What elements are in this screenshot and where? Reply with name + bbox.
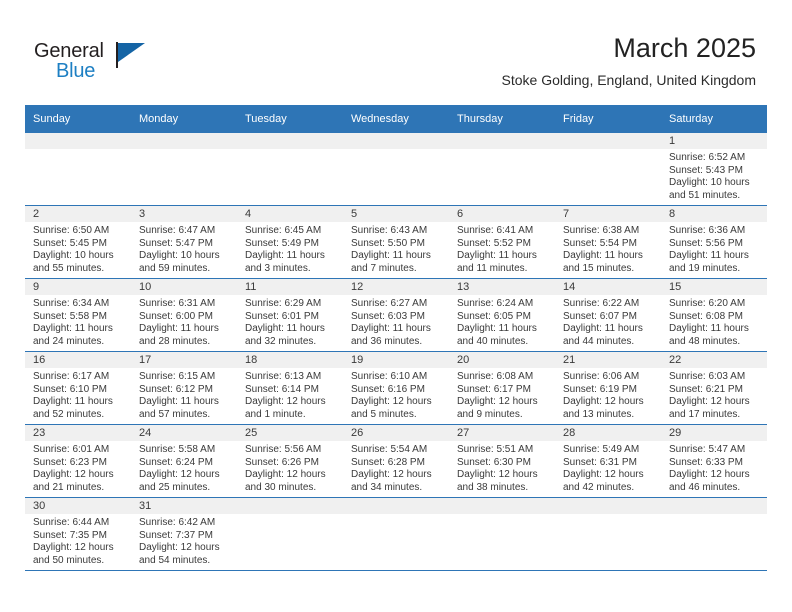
daylight-text: Daylight: 11 hours [563, 323, 657, 336]
day-number: 13 [449, 279, 555, 295]
day-details: Sunrise: 6:27 AMSunset: 6:03 PMDaylight:… [343, 295, 449, 348]
daylight-text: and 5 minutes. [351, 409, 445, 422]
day-details: Sunrise: 6:44 AMSunset: 7:35 PMDaylight:… [25, 514, 131, 567]
calendar-week-row: 30Sunrise: 6:44 AMSunset: 7:35 PMDayligh… [25, 498, 767, 571]
daylight-text: and 59 minutes. [139, 263, 233, 276]
daylight-text: Daylight: 11 hours [139, 323, 233, 336]
day-number: 10 [131, 279, 237, 295]
calendar-day-cell[interactable]: 17Sunrise: 6:15 AMSunset: 6:12 PMDayligh… [131, 352, 237, 425]
sunrise-text: Sunrise: 6:47 AM [139, 225, 233, 238]
daylight-text: and 42 minutes. [563, 482, 657, 495]
sunset-text: Sunset: 6:23 PM [33, 457, 127, 470]
daylight-text: Daylight: 11 hours [33, 323, 127, 336]
sunset-text: Sunset: 5:43 PM [669, 165, 763, 178]
calendar-day-cell[interactable]: 8Sunrise: 6:36 AMSunset: 5:56 PMDaylight… [661, 206, 767, 279]
daylight-text: and 3 minutes. [245, 263, 339, 276]
day-cell-content: 6Sunrise: 6:41 AMSunset: 5:52 PMDaylight… [449, 206, 555, 278]
day-number: 16 [25, 352, 131, 368]
day-cell-content: 21Sunrise: 6:06 AMSunset: 6:19 PMDayligh… [555, 352, 661, 424]
sunset-text: Sunset: 5:56 PM [669, 238, 763, 251]
calendar-empty-cell [449, 498, 555, 571]
sunrise-text: Sunrise: 6:36 AM [669, 225, 763, 238]
sunset-text: Sunset: 5:52 PM [457, 238, 551, 251]
day-details [237, 514, 343, 517]
calendar-day-cell[interactable]: 30Sunrise: 6:44 AMSunset: 7:35 PMDayligh… [25, 498, 131, 571]
day-number [131, 133, 237, 149]
sunset-text: Sunset: 6:26 PM [245, 457, 339, 470]
day-number: 8 [661, 206, 767, 222]
daylight-text: Daylight: 12 hours [563, 396, 657, 409]
day-number: 5 [343, 206, 449, 222]
calendar-day-cell[interactable]: 23Sunrise: 6:01 AMSunset: 6:23 PMDayligh… [25, 425, 131, 498]
day-details: Sunrise: 6:36 AMSunset: 5:56 PMDaylight:… [661, 222, 767, 275]
day-cell-content: 2Sunrise: 6:50 AMSunset: 5:45 PMDaylight… [25, 206, 131, 278]
daylight-text: Daylight: 11 hours [669, 250, 763, 263]
sunset-text: Sunset: 6:24 PM [139, 457, 233, 470]
daylight-text: Daylight: 11 hours [33, 396, 127, 409]
calendar-day-cell[interactable]: 3Sunrise: 6:47 AMSunset: 5:47 PMDaylight… [131, 206, 237, 279]
day-number: 29 [661, 425, 767, 441]
day-details: Sunrise: 5:54 AMSunset: 6:28 PMDaylight:… [343, 441, 449, 494]
daylight-text: Daylight: 12 hours [351, 396, 445, 409]
daylight-text: Daylight: 11 hours [245, 323, 339, 336]
day-details: Sunrise: 6:15 AMSunset: 6:12 PMDaylight:… [131, 368, 237, 421]
daylight-text: Daylight: 12 hours [669, 469, 763, 482]
daylight-text: Daylight: 11 hours [351, 323, 445, 336]
day-number: 4 [237, 206, 343, 222]
day-cell-content [237, 498, 343, 570]
daylight-text: Daylight: 12 hours [457, 469, 551, 482]
day-number: 12 [343, 279, 449, 295]
day-cell-content [131, 133, 237, 205]
daylight-text: Daylight: 10 hours [669, 177, 763, 190]
sunset-text: Sunset: 6:17 PM [457, 384, 551, 397]
day-cell-content [343, 498, 449, 570]
day-details: Sunrise: 6:42 AMSunset: 7:37 PMDaylight:… [131, 514, 237, 567]
daylight-text: and 44 minutes. [563, 336, 657, 349]
calendar-day-cell[interactable]: 21Sunrise: 6:06 AMSunset: 6:19 PMDayligh… [555, 352, 661, 425]
calendar-week-row: 16Sunrise: 6:17 AMSunset: 6:10 PMDayligh… [25, 352, 767, 425]
sunrise-text: Sunrise: 6:52 AM [669, 152, 763, 165]
sunset-text: Sunset: 6:03 PM [351, 311, 445, 324]
calendar-day-cell[interactable]: 27Sunrise: 5:51 AMSunset: 6:30 PMDayligh… [449, 425, 555, 498]
day-number [555, 498, 661, 514]
daylight-text: and 55 minutes. [33, 263, 127, 276]
calendar-week-row: 9Sunrise: 6:34 AMSunset: 5:58 PMDaylight… [25, 279, 767, 352]
calendar-day-cell[interactable]: 11Sunrise: 6:29 AMSunset: 6:01 PMDayligh… [237, 279, 343, 352]
sunrise-text: Sunrise: 6:06 AM [563, 371, 657, 384]
calendar-empty-cell [343, 498, 449, 571]
calendar-empty-cell [131, 133, 237, 206]
calendar-day-cell[interactable]: 2Sunrise: 6:50 AMSunset: 5:45 PMDaylight… [25, 206, 131, 279]
sunrise-text: Sunrise: 6:27 AM [351, 298, 445, 311]
sunset-text: Sunset: 5:47 PM [139, 238, 233, 251]
brand-logo: General Blue [34, 40, 164, 88]
day-details: Sunrise: 6:47 AMSunset: 5:47 PMDaylight:… [131, 222, 237, 275]
day-details: Sunrise: 6:06 AMSunset: 6:19 PMDaylight:… [555, 368, 661, 421]
day-details: Sunrise: 6:45 AMSunset: 5:49 PMDaylight:… [237, 222, 343, 275]
day-details: Sunrise: 6:17 AMSunset: 6:10 PMDaylight:… [25, 368, 131, 421]
calendar-header: SundayMondayTuesdayWednesdayThursdayFrid… [25, 105, 767, 133]
day-cell-content: 19Sunrise: 6:10 AMSunset: 6:16 PMDayligh… [343, 352, 449, 424]
day-cell-content: 11Sunrise: 6:29 AMSunset: 6:01 PMDayligh… [237, 279, 343, 351]
sunset-text: Sunset: 6:31 PM [563, 457, 657, 470]
calendar-week-row: 2Sunrise: 6:50 AMSunset: 5:45 PMDaylight… [25, 206, 767, 279]
location-subtitle: Stoke Golding, England, United Kingdom [502, 70, 757, 90]
sunset-text: Sunset: 6:07 PM [563, 311, 657, 324]
weekday-header-friday: Friday [555, 105, 661, 133]
day-number: 15 [661, 279, 767, 295]
weekday-header-thursday: Thursday [449, 105, 555, 133]
brand-name-blue: Blue [56, 60, 95, 83]
day-details: Sunrise: 6:22 AMSunset: 6:07 PMDaylight:… [555, 295, 661, 348]
sunset-text: Sunset: 6:30 PM [457, 457, 551, 470]
day-cell-content [661, 498, 767, 570]
day-cell-content [555, 133, 661, 205]
day-cell-content: 13Sunrise: 6:24 AMSunset: 6:05 PMDayligh… [449, 279, 555, 351]
daylight-text: and 46 minutes. [669, 482, 763, 495]
daylight-text: and 15 minutes. [563, 263, 657, 276]
daylight-text: Daylight: 11 hours [245, 250, 339, 263]
day-cell-content: 26Sunrise: 5:54 AMSunset: 6:28 PMDayligh… [343, 425, 449, 497]
sunrise-text: Sunrise: 6:44 AM [33, 517, 127, 530]
sunrise-text: Sunrise: 6:41 AM [457, 225, 551, 238]
day-number: 27 [449, 425, 555, 441]
sunrise-text: Sunrise: 6:38 AM [563, 225, 657, 238]
daylight-text: and 21 minutes. [33, 482, 127, 495]
calendar-empty-cell [555, 133, 661, 206]
calendar-day-cell[interactable]: 16Sunrise: 6:17 AMSunset: 6:10 PMDayligh… [25, 352, 131, 425]
day-cell-content: 31Sunrise: 6:42 AMSunset: 7:37 PMDayligh… [131, 498, 237, 570]
calendar-day-cell[interactable]: 12Sunrise: 6:27 AMSunset: 6:03 PMDayligh… [343, 279, 449, 352]
day-number [237, 498, 343, 514]
day-cell-content [449, 133, 555, 205]
calendar-empty-cell [237, 133, 343, 206]
day-number: 14 [555, 279, 661, 295]
day-number [449, 133, 555, 149]
day-details: Sunrise: 5:47 AMSunset: 6:33 PMDaylight:… [661, 441, 767, 494]
day-number: 30 [25, 498, 131, 514]
daylight-text: and 34 minutes. [351, 482, 445, 495]
day-number [449, 498, 555, 514]
daylight-text: Daylight: 12 hours [139, 469, 233, 482]
calendar-body: 1Sunrise: 6:52 AMSunset: 5:43 PMDaylight… [25, 133, 767, 571]
day-cell-content: 10Sunrise: 6:31 AMSunset: 6:00 PMDayligh… [131, 279, 237, 351]
sunset-text: Sunset: 6:21 PM [669, 384, 763, 397]
day-details: Sunrise: 6:52 AMSunset: 5:43 PMDaylight:… [661, 149, 767, 202]
day-number: 1 [661, 133, 767, 149]
calendar-empty-cell [555, 498, 661, 571]
day-cell-content: 25Sunrise: 5:56 AMSunset: 6:26 PMDayligh… [237, 425, 343, 497]
calendar-day-cell[interactable]: 26Sunrise: 5:54 AMSunset: 6:28 PMDayligh… [343, 425, 449, 498]
sunset-text: Sunset: 6:28 PM [351, 457, 445, 470]
calendar-day-cell[interactable]: 5Sunrise: 6:43 AMSunset: 5:50 PMDaylight… [343, 206, 449, 279]
day-details: Sunrise: 6:29 AMSunset: 6:01 PMDaylight:… [237, 295, 343, 348]
calendar-empty-cell [237, 498, 343, 571]
sunset-text: Sunset: 6:14 PM [245, 384, 339, 397]
day-cell-content: 12Sunrise: 6:27 AMSunset: 6:03 PMDayligh… [343, 279, 449, 351]
sunrise-text: Sunrise: 5:58 AM [139, 444, 233, 457]
daylight-text: Daylight: 11 hours [351, 250, 445, 263]
daylight-text: and 36 minutes. [351, 336, 445, 349]
day-cell-content: 14Sunrise: 6:22 AMSunset: 6:07 PMDayligh… [555, 279, 661, 351]
day-number: 17 [131, 352, 237, 368]
day-number: 22 [661, 352, 767, 368]
sunrise-text: Sunrise: 5:56 AM [245, 444, 339, 457]
daylight-text: and 24 minutes. [33, 336, 127, 349]
day-details [343, 514, 449, 517]
day-details: Sunrise: 6:13 AMSunset: 6:14 PMDaylight:… [237, 368, 343, 421]
day-details: Sunrise: 6:41 AMSunset: 5:52 PMDaylight:… [449, 222, 555, 275]
day-number [237, 133, 343, 149]
daylight-text: Daylight: 12 hours [457, 396, 551, 409]
sunset-text: Sunset: 5:54 PM [563, 238, 657, 251]
daylight-text: and 7 minutes. [351, 263, 445, 276]
daylight-text: Daylight: 10 hours [139, 250, 233, 263]
daylight-text: Daylight: 12 hours [669, 396, 763, 409]
day-number: 9 [25, 279, 131, 295]
sunrise-text: Sunrise: 6:45 AM [245, 225, 339, 238]
sunset-text: Sunset: 5:49 PM [245, 238, 339, 251]
day-number: 25 [237, 425, 343, 441]
day-details [555, 514, 661, 517]
flag-triangle-icon [118, 43, 145, 62]
day-details: Sunrise: 6:24 AMSunset: 6:05 PMDaylight:… [449, 295, 555, 348]
daylight-text: Daylight: 11 hours [563, 250, 657, 263]
day-cell-content: 17Sunrise: 6:15 AMSunset: 6:12 PMDayligh… [131, 352, 237, 424]
calendar-day-cell[interactable]: 29Sunrise: 5:47 AMSunset: 6:33 PMDayligh… [661, 425, 767, 498]
day-number: 3 [131, 206, 237, 222]
day-details: Sunrise: 6:43 AMSunset: 5:50 PMDaylight:… [343, 222, 449, 275]
sunset-text: Sunset: 6:16 PM [351, 384, 445, 397]
sunrise-text: Sunrise: 6:20 AM [669, 298, 763, 311]
day-details [131, 149, 237, 152]
day-number [555, 133, 661, 149]
daylight-text: and 52 minutes. [33, 409, 127, 422]
calendar-day-cell[interactable]: 22Sunrise: 6:03 AMSunset: 6:21 PMDayligh… [661, 352, 767, 425]
day-details: Sunrise: 6:38 AMSunset: 5:54 PMDaylight:… [555, 222, 661, 275]
day-number: 18 [237, 352, 343, 368]
page-title: March 2025 [502, 32, 757, 64]
daylight-text: and 51 minutes. [669, 190, 763, 203]
calendar-day-cell[interactable]: 13Sunrise: 6:24 AMSunset: 6:05 PMDayligh… [449, 279, 555, 352]
day-cell-content: 20Sunrise: 6:08 AMSunset: 6:17 PMDayligh… [449, 352, 555, 424]
calendar-day-cell[interactable]: 18Sunrise: 6:13 AMSunset: 6:14 PMDayligh… [237, 352, 343, 425]
sunrise-text: Sunrise: 6:10 AM [351, 371, 445, 384]
sunset-text: Sunset: 6:08 PM [669, 311, 763, 324]
calendar-week-row: 23Sunrise: 6:01 AMSunset: 6:23 PMDayligh… [25, 425, 767, 498]
day-number: 19 [343, 352, 449, 368]
day-number [661, 498, 767, 514]
day-details: Sunrise: 5:58 AMSunset: 6:24 PMDaylight:… [131, 441, 237, 494]
day-number: 6 [449, 206, 555, 222]
sunset-text: Sunset: 7:35 PM [33, 530, 127, 543]
calendar-empty-cell [343, 133, 449, 206]
daylight-text: and 57 minutes. [139, 409, 233, 422]
weekday-header-sunday: Sunday [25, 105, 131, 133]
calendar-day-cell[interactable]: 1Sunrise: 6:52 AMSunset: 5:43 PMDaylight… [661, 133, 767, 206]
calendar-empty-cell [661, 498, 767, 571]
sunset-text: Sunset: 6:01 PM [245, 311, 339, 324]
calendar-day-cell[interactable]: 25Sunrise: 5:56 AMSunset: 6:26 PMDayligh… [237, 425, 343, 498]
sunrise-text: Sunrise: 6:17 AM [33, 371, 127, 384]
daylight-text: and 19 minutes. [669, 263, 763, 276]
sunrise-text: Sunrise: 5:47 AM [669, 444, 763, 457]
day-details: Sunrise: 6:01 AMSunset: 6:23 PMDaylight:… [25, 441, 131, 494]
day-cell-content: 23Sunrise: 6:01 AMSunset: 6:23 PMDayligh… [25, 425, 131, 497]
day-details: Sunrise: 6:10 AMSunset: 6:16 PMDaylight:… [343, 368, 449, 421]
day-number [343, 498, 449, 514]
weekday-header-saturday: Saturday [661, 105, 767, 133]
daylight-text: and 48 minutes. [669, 336, 763, 349]
sunset-text: Sunset: 6:12 PM [139, 384, 233, 397]
day-cell-content: 24Sunrise: 5:58 AMSunset: 6:24 PMDayligh… [131, 425, 237, 497]
daylight-text: Daylight: 12 hours [139, 542, 233, 555]
daylight-text: and 1 minute. [245, 409, 339, 422]
day-cell-content: 8Sunrise: 6:36 AMSunset: 5:56 PMDaylight… [661, 206, 767, 278]
day-number: 2 [25, 206, 131, 222]
day-cell-content [449, 498, 555, 570]
day-number: 21 [555, 352, 661, 368]
sunrise-text: Sunrise: 6:01 AM [33, 444, 127, 457]
daylight-text: and 38 minutes. [457, 482, 551, 495]
day-cell-content [343, 133, 449, 205]
calendar-day-cell[interactable]: 31Sunrise: 6:42 AMSunset: 7:37 PMDayligh… [131, 498, 237, 571]
calendar-day-cell[interactable]: 19Sunrise: 6:10 AMSunset: 6:16 PMDayligh… [343, 352, 449, 425]
daylight-text: Daylight: 11 hours [669, 323, 763, 336]
daylight-text: and 25 minutes. [139, 482, 233, 495]
day-details: Sunrise: 6:03 AMSunset: 6:21 PMDaylight:… [661, 368, 767, 421]
day-details: Sunrise: 5:49 AMSunset: 6:31 PMDaylight:… [555, 441, 661, 494]
daylight-text: Daylight: 12 hours [33, 469, 127, 482]
weekday-header-row: SundayMondayTuesdayWednesdayThursdayFrid… [25, 105, 767, 133]
day-number: 23 [25, 425, 131, 441]
sunrise-text: Sunrise: 6:08 AM [457, 371, 551, 384]
day-cell-content: 28Sunrise: 5:49 AMSunset: 6:31 PMDayligh… [555, 425, 661, 497]
daylight-text: Daylight: 12 hours [245, 396, 339, 409]
day-details [555, 149, 661, 152]
day-number: 7 [555, 206, 661, 222]
calendar-day-cell[interactable]: 10Sunrise: 6:31 AMSunset: 6:00 PMDayligh… [131, 279, 237, 352]
day-cell-content: 18Sunrise: 6:13 AMSunset: 6:14 PMDayligh… [237, 352, 343, 424]
day-cell-content: 29Sunrise: 5:47 AMSunset: 6:33 PMDayligh… [661, 425, 767, 497]
daylight-text: Daylight: 12 hours [351, 469, 445, 482]
daylight-text: Daylight: 11 hours [139, 396, 233, 409]
daylight-text: and 9 minutes. [457, 409, 551, 422]
day-details [661, 514, 767, 517]
calendar-day-cell[interactable]: 28Sunrise: 5:49 AMSunset: 6:31 PMDayligh… [555, 425, 661, 498]
sunset-text: Sunset: 7:37 PM [139, 530, 233, 543]
sunrise-text: Sunrise: 5:49 AM [563, 444, 657, 457]
sunrise-text: Sunrise: 6:31 AM [139, 298, 233, 311]
day-details: Sunrise: 5:56 AMSunset: 6:26 PMDaylight:… [237, 441, 343, 494]
daylight-text: and 50 minutes. [33, 555, 127, 568]
day-number: 31 [131, 498, 237, 514]
page-header: General Blue March 2025 Stoke Golding, E… [0, 0, 792, 100]
day-details: Sunrise: 6:20 AMSunset: 6:08 PMDaylight:… [661, 295, 767, 348]
sunrise-text: Sunrise: 6:34 AM [33, 298, 127, 311]
sunrise-text: Sunrise: 5:54 AM [351, 444, 445, 457]
day-number: 28 [555, 425, 661, 441]
day-details [449, 514, 555, 517]
day-details [25, 149, 131, 152]
day-number: 20 [449, 352, 555, 368]
day-cell-content: 7Sunrise: 6:38 AMSunset: 5:54 PMDaylight… [555, 206, 661, 278]
daylight-text: Daylight: 12 hours [245, 469, 339, 482]
day-number: 26 [343, 425, 449, 441]
daylight-text: and 28 minutes. [139, 336, 233, 349]
day-cell-content: 5Sunrise: 6:43 AMSunset: 5:50 PMDaylight… [343, 206, 449, 278]
calendar-week-row: 1Sunrise: 6:52 AMSunset: 5:43 PMDaylight… [25, 133, 767, 206]
day-details: Sunrise: 6:08 AMSunset: 6:17 PMDaylight:… [449, 368, 555, 421]
day-cell-content [237, 133, 343, 205]
daylight-text: and 54 minutes. [139, 555, 233, 568]
daylight-text: Daylight: 11 hours [457, 250, 551, 263]
day-details: Sunrise: 6:31 AMSunset: 6:00 PMDaylight:… [131, 295, 237, 348]
calendar-day-cell[interactable]: 7Sunrise: 6:38 AMSunset: 5:54 PMDaylight… [555, 206, 661, 279]
weekday-header-wednesday: Wednesday [343, 105, 449, 133]
sunset-text: Sunset: 6:05 PM [457, 311, 551, 324]
sunset-text: Sunset: 6:10 PM [33, 384, 127, 397]
calendar-day-cell[interactable]: 6Sunrise: 6:41 AMSunset: 5:52 PMDaylight… [449, 206, 555, 279]
sunrise-text: Sunrise: 6:24 AM [457, 298, 551, 311]
calendar-empty-cell [449, 133, 555, 206]
sunset-text: Sunset: 6:19 PM [563, 384, 657, 397]
weekday-header-monday: Monday [131, 105, 237, 133]
day-cell-content: 9Sunrise: 6:34 AMSunset: 5:58 PMDaylight… [25, 279, 131, 351]
sunset-text: Sunset: 6:00 PM [139, 311, 233, 324]
day-cell-content [25, 133, 131, 205]
sunrise-text: Sunrise: 6:43 AM [351, 225, 445, 238]
day-cell-content: 3Sunrise: 6:47 AMSunset: 5:47 PMDaylight… [131, 206, 237, 278]
sunset-text: Sunset: 5:45 PM [33, 238, 127, 251]
sunrise-text: Sunrise: 6:42 AM [139, 517, 233, 530]
day-details [343, 149, 449, 152]
calendar-day-cell[interactable]: 4Sunrise: 6:45 AMSunset: 5:49 PMDaylight… [237, 206, 343, 279]
day-cell-content: 30Sunrise: 6:44 AMSunset: 7:35 PMDayligh… [25, 498, 131, 570]
sunrise-text: Sunrise: 5:51 AM [457, 444, 551, 457]
day-details [449, 149, 555, 152]
calendar-day-cell[interactable]: 20Sunrise: 6:08 AMSunset: 6:17 PMDayligh… [449, 352, 555, 425]
title-block: March 2025 Stoke Golding, England, Unite… [502, 32, 757, 90]
day-cell-content [555, 498, 661, 570]
day-cell-content: 1Sunrise: 6:52 AMSunset: 5:43 PMDaylight… [661, 133, 767, 205]
daylight-text: Daylight: 12 hours [33, 542, 127, 555]
sunset-text: Sunset: 5:50 PM [351, 238, 445, 251]
sunrise-text: Sunrise: 6:50 AM [33, 225, 127, 238]
calendar-day-cell[interactable]: 14Sunrise: 6:22 AMSunset: 6:07 PMDayligh… [555, 279, 661, 352]
day-details: Sunrise: 6:34 AMSunset: 5:58 PMDaylight:… [25, 295, 131, 348]
sunset-text: Sunset: 6:33 PM [669, 457, 763, 470]
daylight-text: and 30 minutes. [245, 482, 339, 495]
daylight-text: and 13 minutes. [563, 409, 657, 422]
day-number: 24 [131, 425, 237, 441]
sunrise-text: Sunrise: 6:29 AM [245, 298, 339, 311]
sunrise-text: Sunrise: 6:03 AM [669, 371, 763, 384]
day-number: 11 [237, 279, 343, 295]
weekday-header-tuesday: Tuesday [237, 105, 343, 133]
day-details [237, 149, 343, 152]
daylight-text: and 11 minutes. [457, 263, 551, 276]
daylight-text: and 32 minutes. [245, 336, 339, 349]
calendar-day-cell[interactable]: 9Sunrise: 6:34 AMSunset: 5:58 PMDaylight… [25, 279, 131, 352]
day-details: Sunrise: 6:50 AMSunset: 5:45 PMDaylight:… [25, 222, 131, 275]
calendar-day-cell[interactable]: 15Sunrise: 6:20 AMSunset: 6:08 PMDayligh… [661, 279, 767, 352]
sunrise-text: Sunrise: 6:15 AM [139, 371, 233, 384]
day-cell-content: 22Sunrise: 6:03 AMSunset: 6:21 PMDayligh… [661, 352, 767, 424]
day-cell-content: 16Sunrise: 6:17 AMSunset: 6:10 PMDayligh… [25, 352, 131, 424]
calendar-day-cell[interactable]: 24Sunrise: 5:58 AMSunset: 6:24 PMDayligh… [131, 425, 237, 498]
